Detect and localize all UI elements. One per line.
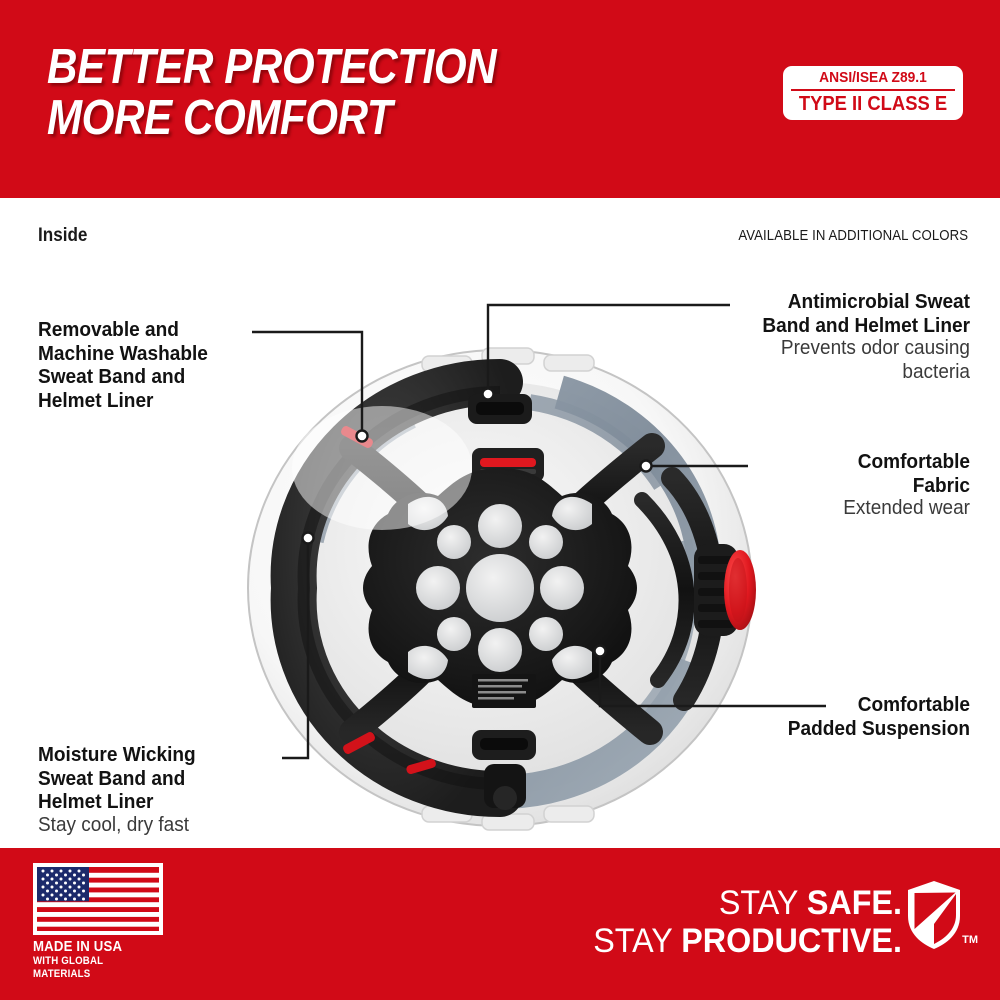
callout-subtitle: Prevents odor causing bacteria bbox=[714, 337, 971, 384]
callout-title: Comfortable Padded Suspension bbox=[738, 693, 971, 740]
us-flag-icon bbox=[33, 863, 163, 935]
cert-standard-label: ANSI/ISEA Z89.1 bbox=[790, 69, 956, 87]
shield-icon bbox=[906, 880, 962, 950]
callout-title: Antimicrobial Sweat Band and Helmet Line… bbox=[719, 290, 970, 337]
callout-removable: Removable and Machine Washable Sweat Ban… bbox=[38, 318, 278, 412]
global-materials-label: WITH GLOBAL MATERIALS bbox=[33, 955, 156, 981]
callout-suspension: Comfortable Padded Suspension bbox=[720, 693, 970, 740]
callout-subtitle: Stay cool, dry fast bbox=[38, 814, 261, 838]
product-feature-panel: Inside AVAILABLE IN ADDITIONAL COLORS bbox=[0, 198, 1000, 848]
trademark-mark: TM bbox=[962, 934, 978, 946]
callout-fabric: Comfortable Fabric Extended wear bbox=[740, 450, 970, 521]
tagline-stay-1: STAY bbox=[719, 884, 807, 922]
cert-divider bbox=[791, 89, 955, 91]
tagline-safe: SAFE. bbox=[807, 884, 902, 922]
made-in-usa-label: MADE IN USA bbox=[33, 938, 156, 955]
tagline-stay-2: STAY bbox=[593, 922, 681, 960]
callout-title: Moisture Wicking Sweat Band and Helmet L… bbox=[38, 743, 257, 814]
callout-title: Removable and Machine Washable Sweat Ban… bbox=[38, 318, 261, 412]
header-banner: BETTER PROTECTION MORE COMFORT ANSI/ISEA… bbox=[0, 0, 1000, 198]
callout-antimicrobial: Antimicrobial Sweat Band and Helmet Line… bbox=[700, 290, 970, 384]
tagline-productive: PRODUCTIVE. bbox=[681, 922, 902, 960]
footer-banner: MADE IN USA WITH GLOBAL MATERIALS STAY S… bbox=[0, 848, 1000, 1000]
tagline-row-1: STAY SAFE. bbox=[593, 884, 902, 922]
callout-title: Comfortable Fabric bbox=[756, 450, 970, 497]
callout-moisture: Moisture Wicking Sweat Band and Helmet L… bbox=[38, 743, 273, 837]
made-in-usa-badge: MADE IN USA WITH GLOBAL MATERIALS bbox=[33, 863, 173, 981]
tagline-row-2: STAY PRODUCTIVE. bbox=[593, 922, 902, 960]
cert-type-class-label: TYPE II CLASS E bbox=[790, 93, 956, 116]
brand-tagline: STAY SAFE. STAY PRODUCTIVE. bbox=[577, 884, 902, 960]
callout-subtitle: Extended wear bbox=[752, 497, 971, 521]
page-title: BETTER PROTECTION MORE COMFORT bbox=[47, 42, 496, 144]
certification-badge: ANSI/ISEA Z89.1 TYPE II CLASS E bbox=[783, 66, 963, 120]
